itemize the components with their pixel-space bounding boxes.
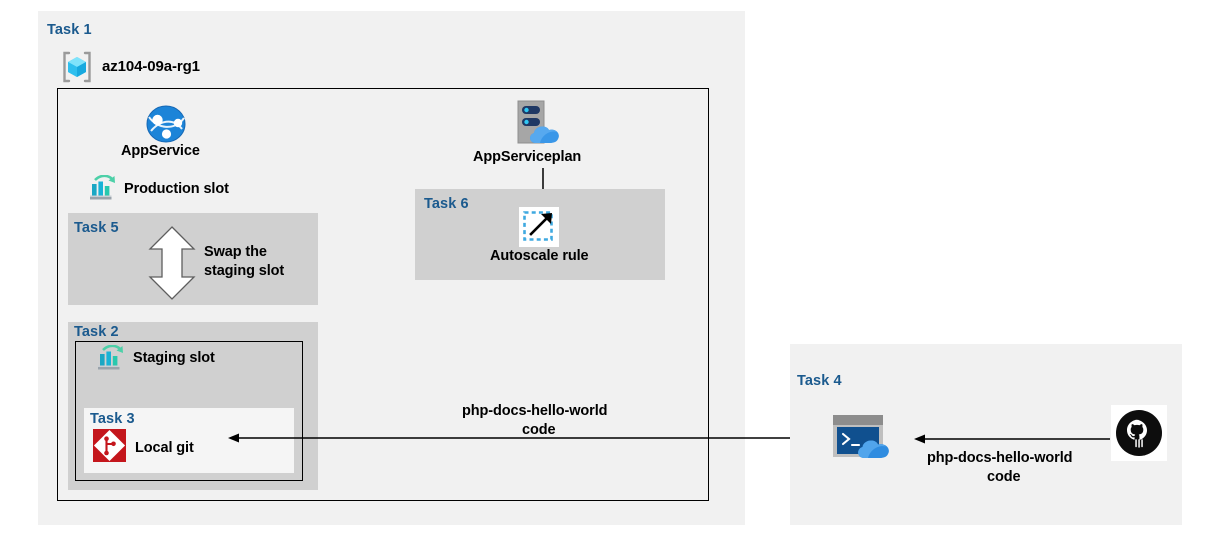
arrow-github-to-cloudshell — [914, 432, 1110, 446]
autoscale-icon — [519, 207, 559, 247]
local-git-label: Local git — [135, 440, 194, 456]
task5-label: Task 5 — [74, 220, 119, 236]
task4-label: Task 4 — [797, 373, 842, 389]
app-service-label: AppService — [121, 143, 200, 159]
swap-label-line1: Swap the — [204, 243, 267, 261]
edge-label-cloudshell-localgit-line2: code — [522, 421, 555, 439]
edge-label-github-cloudshell-line2: code — [987, 468, 1020, 486]
task3-label: Task 3 — [90, 411, 135, 427]
task6-label: Task 6 — [424, 196, 469, 212]
diagram-canvas: Task 1 az104-09a-rg1 — [0, 0, 1218, 545]
swap-label-line2: staging slot — [204, 262, 284, 280]
production-slot-label: Production slot — [124, 181, 229, 197]
deployment-slot-icon-production — [88, 175, 118, 203]
task1-label: Task 1 — [47, 22, 92, 38]
git-icon — [93, 429, 126, 462]
edge-label-cloudshell-localgit-line1: php-docs-hello-world — [462, 402, 607, 420]
task2-label: Task 2 — [74, 324, 119, 340]
swap-double-arrow-icon — [148, 226, 196, 300]
resource-group-icon — [60, 50, 94, 84]
deployment-slot-icon-staging — [96, 345, 126, 373]
github-icon — [1111, 405, 1167, 461]
app-service-icon — [145, 104, 187, 144]
autoscale-rule-label: Autoscale rule — [490, 248, 589, 264]
resource-group-label: az104-09a-rg1 — [102, 58, 200, 75]
cloud-shell-icon — [831, 413, 901, 461]
edge-label-github-cloudshell-line1: php-docs-hello-world — [927, 449, 1072, 467]
staging-slot-label: Staging slot — [133, 350, 215, 366]
app-service-plan-icon — [512, 99, 568, 145]
app-service-plan-label: AppServiceplan — [473, 149, 581, 165]
